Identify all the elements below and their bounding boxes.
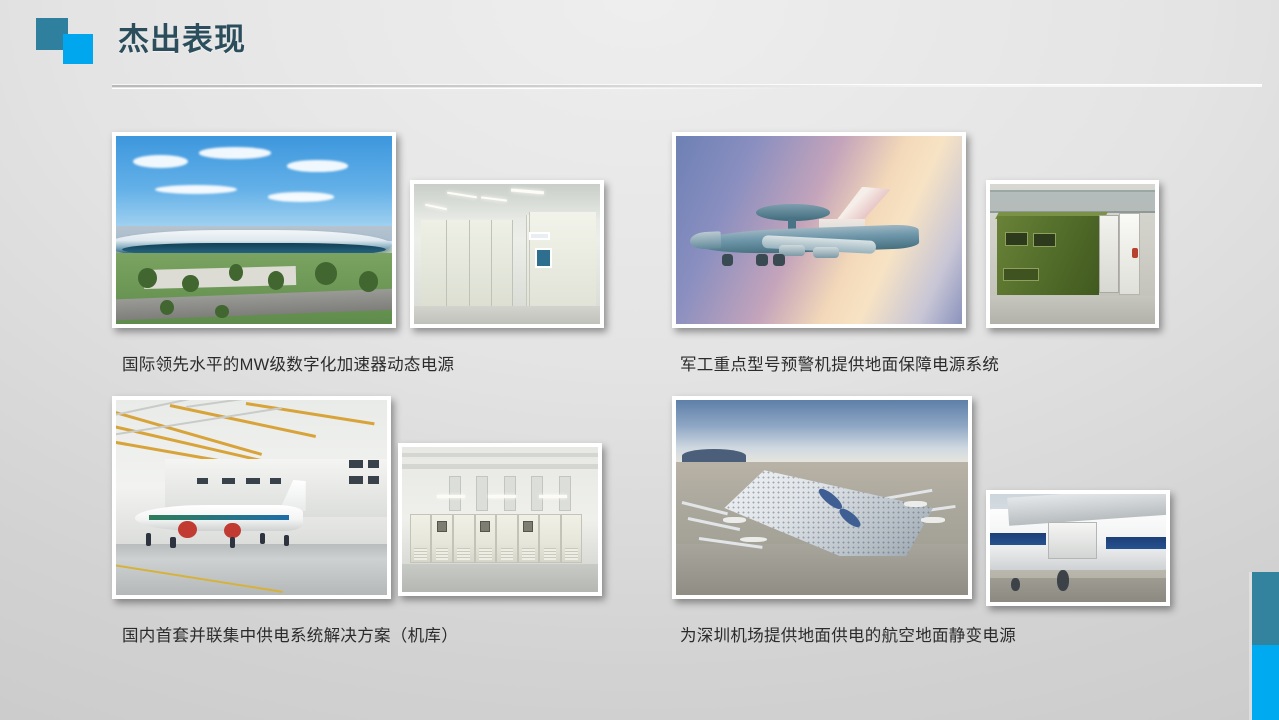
caption-3: 国内首套并联集中供电系统解决方案（机库）	[122, 622, 458, 646]
accent-bar-bright	[1252, 645, 1279, 720]
decorative-square-bright	[63, 34, 93, 64]
page-title: 杰出表现	[118, 19, 246, 61]
aircraft-ground-power-photo	[986, 490, 1170, 606]
slide-header: 杰出表现	[0, 0, 1279, 92]
caption-4: 为深圳机场提供地面供电的航空地面静变电源	[680, 622, 1016, 646]
green-shelter-container-photo	[986, 180, 1159, 328]
awacs-aircraft-photo	[672, 132, 966, 328]
caption-2: 军工重点型号预警机提供地面保障电源系统	[680, 351, 999, 375]
accent-bar-dark	[1252, 572, 1279, 645]
header-divider-highlight	[112, 88, 812, 89]
control-cabinet-corridor-photo	[410, 180, 604, 328]
shenzhen-airport-terminal-photo	[672, 396, 972, 599]
power-cabinet-room-photo	[398, 443, 602, 596]
aircraft-hangar-photo	[112, 396, 391, 599]
header-divider	[112, 84, 1262, 87]
caption-1: 国际领先水平的MW级数字化加速器动态电源	[122, 351, 454, 375]
accelerator-facility-photo	[112, 132, 396, 328]
